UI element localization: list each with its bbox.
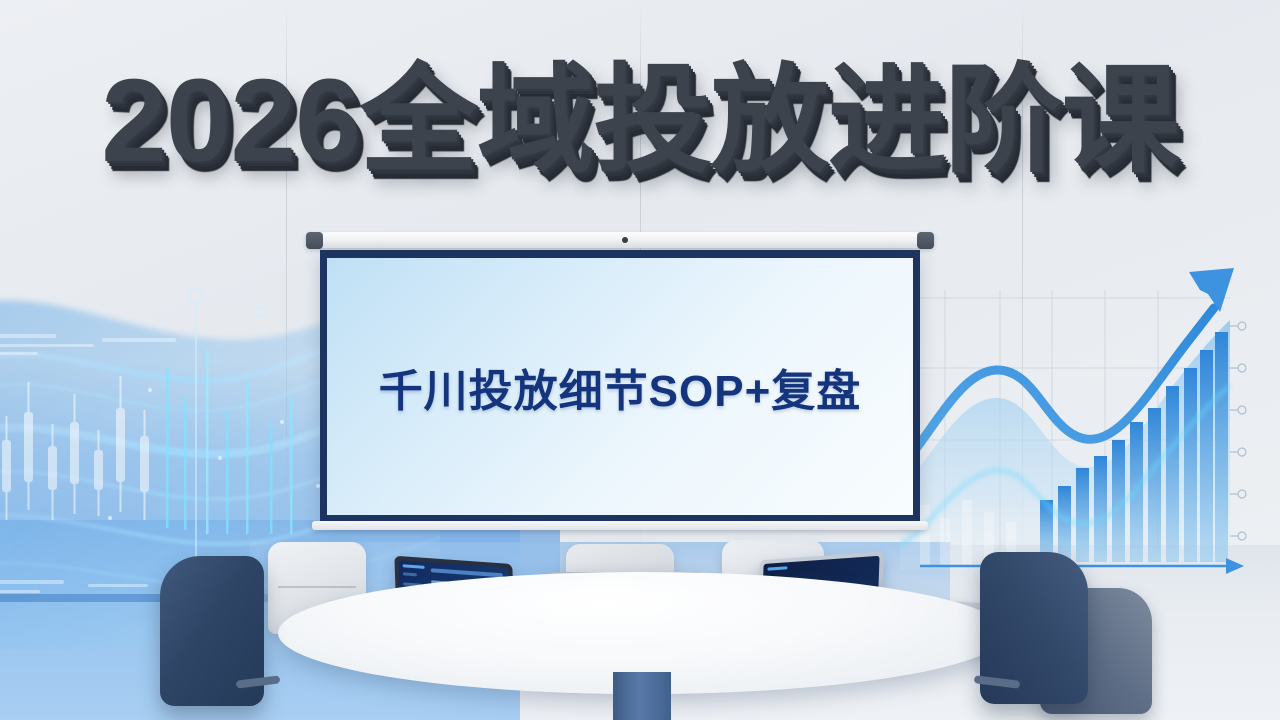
screen-roller-pull-dot [622,237,628,243]
projection-screen: 千川投放细节SOP+复盘 [306,232,934,532]
chair-front-left [160,556,276,720]
screen-bottom-bar [312,521,928,530]
screen-roller-cap-right [917,232,934,249]
screen-headline: 千川投放细节SOP+复盘 [327,258,913,515]
screen-roller-cap-left [306,232,323,249]
page-title: 2026全域投放进阶课 [0,62,1280,180]
chart-y-ticks [1230,322,1246,540]
chair-front-right [980,552,1102,720]
round-conference-table [278,572,1006,720]
projection-screen-surface: 千川投放细节SOP+复盘 [320,250,920,522]
chart-x-axis-arrow [1226,558,1244,574]
poster-canvas:  [0,0,1280,720]
screen-roller-bar [306,232,934,248]
table-leg [613,672,671,720]
